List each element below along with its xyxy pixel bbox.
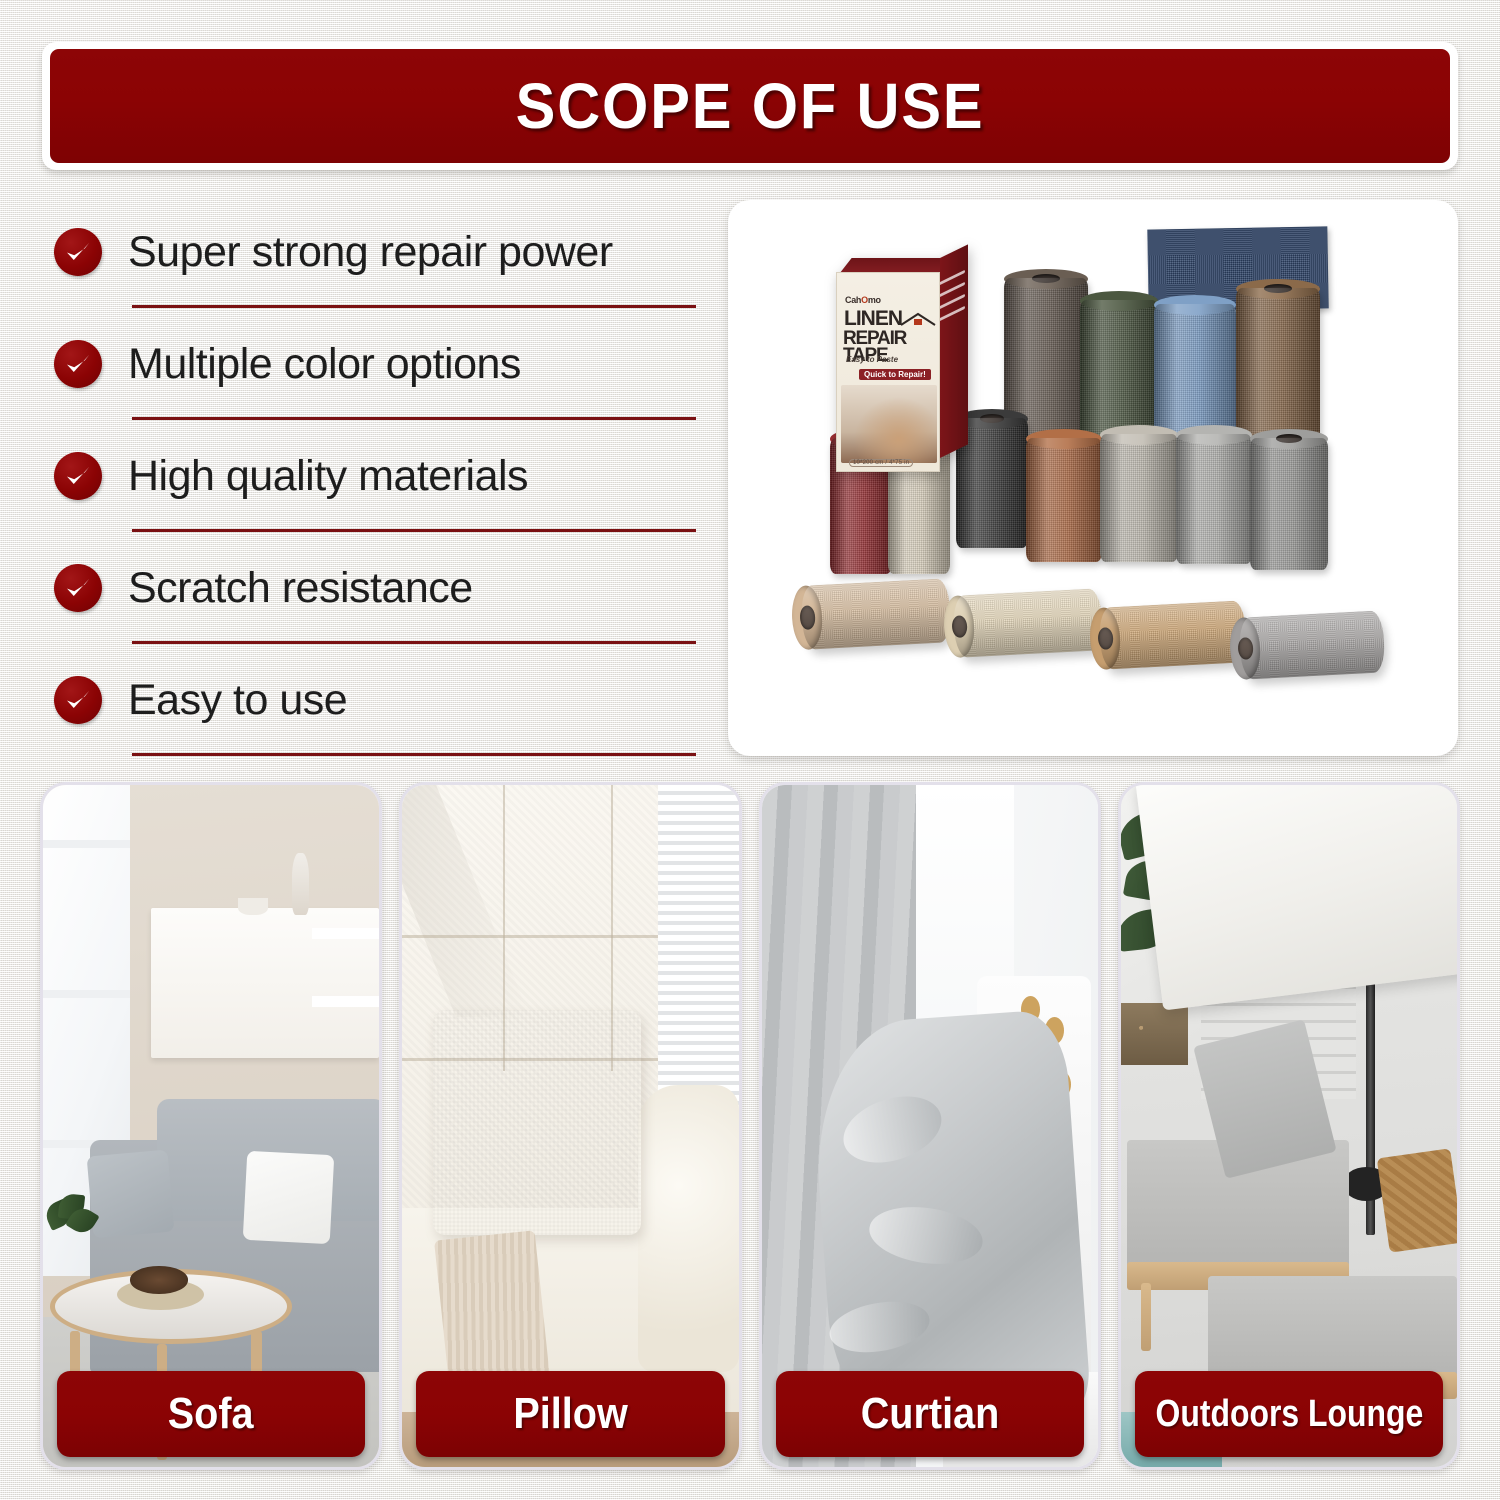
tape-roll-terracotta xyxy=(1026,438,1102,562)
wall-shelf xyxy=(312,996,379,1007)
curtain-scene xyxy=(762,785,1098,1467)
box-front-face: CahOmo LINEN REPAIR TAPE Easy to Paste Q… xyxy=(836,272,940,472)
window-mullion xyxy=(43,990,130,998)
tape-rolls-arrangement: CahOmo LINEN REPAIR TAPE Easy to Paste Q… xyxy=(728,200,1458,756)
page-title: SCOPE OF USE xyxy=(516,69,985,143)
feature-label: High quality materials xyxy=(128,452,528,501)
panel-label-pillow: Pillow xyxy=(416,1371,724,1457)
brand-logo-mark: O xyxy=(861,295,868,305)
decor-bowl xyxy=(238,898,268,916)
woven-pillow xyxy=(1377,1149,1460,1254)
house-roof-icon xyxy=(899,311,937,327)
roll-top xyxy=(1004,269,1088,289)
window-mullion xyxy=(43,840,130,848)
lounger-front xyxy=(1208,1276,1457,1385)
roll-hole xyxy=(1264,284,1293,293)
sofa-armrest xyxy=(638,1085,739,1371)
roll-end xyxy=(1228,617,1261,680)
outdoors-lounge-scene xyxy=(1121,785,1457,1467)
tape-roll-gray-b xyxy=(1250,438,1328,570)
roll-end xyxy=(790,585,823,650)
roll-hole xyxy=(1098,627,1114,650)
patio-umbrella xyxy=(1135,782,1460,1010)
box-tagline-2: Quick to Repair! xyxy=(859,369,931,380)
tape-roll-gray-a xyxy=(1176,434,1252,564)
check-icon xyxy=(54,340,102,388)
roll-hole xyxy=(980,414,1004,423)
check-icon xyxy=(54,228,102,276)
roll-end xyxy=(942,595,975,658)
feature-divider xyxy=(132,753,696,756)
lounger-leg xyxy=(1141,1283,1151,1351)
brand-logo-tail: mo xyxy=(868,295,881,305)
feature-item-1: Super strong repair power xyxy=(48,196,696,308)
white-pillow xyxy=(242,1151,334,1244)
tape-roll-h-tan xyxy=(800,578,951,650)
roll-top xyxy=(1250,429,1328,449)
tape-roll-h-khaki xyxy=(1098,600,1247,670)
sofa-scene xyxy=(43,785,379,1467)
decor-vase xyxy=(292,853,309,914)
roll-hole xyxy=(1238,637,1254,660)
panel-label-text: Outdoors Lounge xyxy=(1155,1393,1423,1436)
roll-top xyxy=(1080,291,1158,311)
feature-item-4: Scratch resistance xyxy=(48,532,696,644)
roll-top xyxy=(1154,295,1236,315)
feature-item-5: Easy to use xyxy=(48,644,696,756)
box-side-features xyxy=(939,270,965,322)
box-photo-sofa-dog xyxy=(841,385,937,463)
panel-label-curtain: Curtian xyxy=(776,1371,1084,1457)
brand-logo: CahOmo xyxy=(845,295,881,305)
check-icon xyxy=(54,676,102,724)
feature-item-2: Multiple color options xyxy=(48,308,696,420)
panel-label-outdoors-lounge: Outdoors Lounge xyxy=(1135,1371,1443,1457)
brand-logo-text: Cah xyxy=(845,295,861,305)
wall-panel-line xyxy=(402,935,658,938)
roll-hole xyxy=(1032,274,1061,283)
roll-top xyxy=(1176,425,1252,445)
panel-label-text: Pillow xyxy=(513,1389,627,1439)
feature-item-3: High quality materials xyxy=(48,420,696,532)
product-photo-card: CahOmo LINEN REPAIR TAPE Easy to Paste Q… xyxy=(728,200,1458,756)
feature-label: Super strong repair power xyxy=(128,228,613,277)
panel-curtain[interactable]: Curtian xyxy=(759,782,1101,1470)
panel-outdoors-lounge[interactable]: Outdoors Lounge xyxy=(1118,782,1460,1470)
feature-list: Super strong repair power Multiple color… xyxy=(48,196,696,758)
feature-label: Multiple color options xyxy=(128,340,521,389)
panel-label-sofa: Sofa xyxy=(57,1371,365,1457)
feature-label: Easy to use xyxy=(128,676,347,725)
tape-roll-h-cream xyxy=(952,588,1103,658)
panel-label-text: Curtian xyxy=(860,1389,999,1439)
panel-label-text: Sofa xyxy=(168,1389,254,1439)
panel-sofa[interactable]: Sofa xyxy=(40,782,382,1470)
roll-top xyxy=(1026,429,1102,449)
header-bar: SCOPE OF USE xyxy=(50,49,1450,163)
box-tagline-1: Easy to Paste xyxy=(846,355,898,364)
roll-top xyxy=(1236,279,1320,299)
use-case-panels: Sofa Pillow xyxy=(40,782,1460,1470)
check-icon xyxy=(54,452,102,500)
roll-top xyxy=(1100,425,1178,445)
pillow-scene xyxy=(402,785,738,1467)
box-dimensions: 10*200 cm / 4*75 in xyxy=(849,459,913,467)
feature-label: Scratch resistance xyxy=(128,564,473,613)
roll-hole xyxy=(800,606,816,630)
product-box: CahOmo LINEN REPAIR TAPE Easy to Paste Q… xyxy=(836,258,968,473)
roll-end xyxy=(1088,607,1121,670)
wall-shelf xyxy=(312,928,379,939)
roll-hole xyxy=(1276,434,1303,443)
tape-roll-h-gray xyxy=(1238,610,1385,679)
check-icon xyxy=(54,564,102,612)
tape-roll-beigegray xyxy=(1100,434,1178,562)
panel-pillow[interactable]: Pillow xyxy=(399,782,741,1470)
box-side-face xyxy=(940,244,968,458)
header-banner: SCOPE OF USE xyxy=(42,42,1458,170)
roll-hole xyxy=(952,615,968,638)
linen-pillow xyxy=(433,1010,641,1235)
potted-plant xyxy=(46,1194,100,1289)
box-side-feature-line xyxy=(939,306,965,322)
box-title-line1: LINEN xyxy=(844,309,902,328)
decor-pinecones xyxy=(130,1266,187,1293)
